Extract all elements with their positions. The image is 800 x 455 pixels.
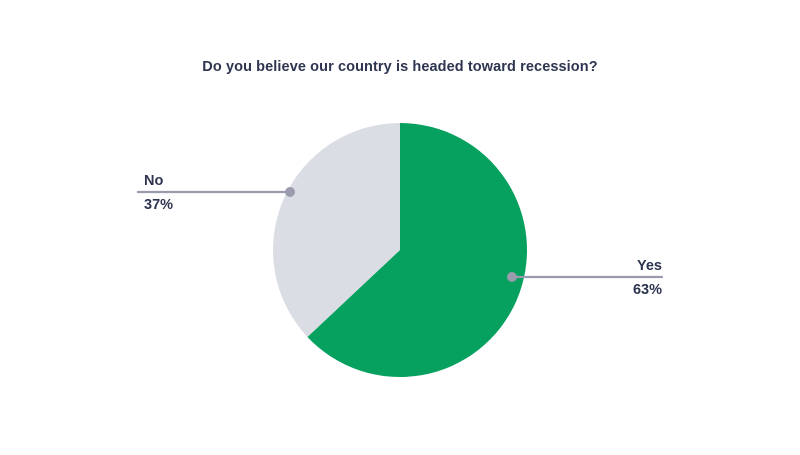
callout-no-value: 37%	[144, 198, 173, 213]
callout-no: No 37%	[144, 174, 173, 212]
callout-no-category: No	[144, 174, 173, 189]
callout-yes-value: 63%	[506, 283, 662, 298]
pie-chart	[0, 0, 800, 450]
chart-canvas: Do you believe our country is headed tow…	[0, 0, 800, 450]
leader-dot-no	[285, 187, 295, 197]
callout-yes-category: Yes	[506, 259, 662, 274]
callout-yes: Yes 63%	[506, 259, 662, 297]
pie-svg	[0, 0, 800, 450]
